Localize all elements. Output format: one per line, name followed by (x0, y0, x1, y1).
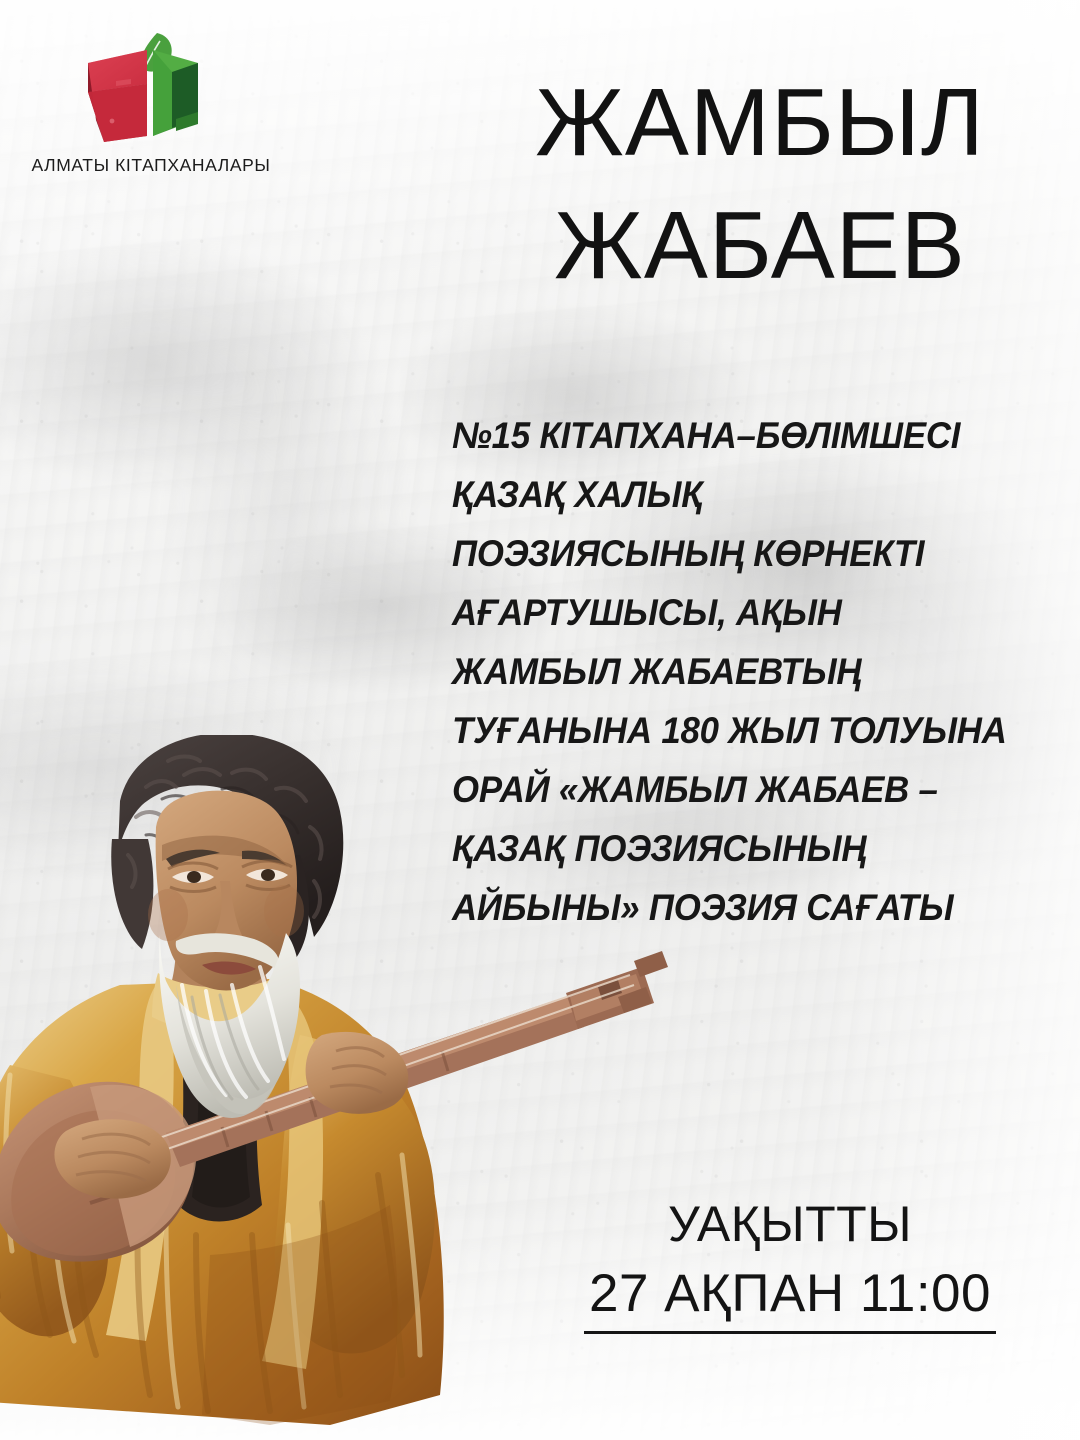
event-time-block: УАҚЫТТЫ 27 АҚПАН 11:00 (560, 1196, 1020, 1334)
time-underline-rule (584, 1331, 996, 1334)
organization-logo: АЛМАТЫ КІТАПХАНАЛАРЫ (26, 24, 276, 176)
description-line: ҚАЗАҚ ХАЛЫҚ (452, 465, 995, 524)
tuning-peg (634, 951, 668, 977)
logo-red-half (88, 50, 147, 142)
poster-canvas: АЛМАТЫ КІТАПХАНАЛАРЫ ЖАМБЫЛ ЖАБАЕВ №15 К… (0, 0, 1080, 1440)
time-label: УАҚЫТТЫ (560, 1196, 1020, 1252)
logo-accent-dot (110, 119, 115, 124)
right-hand (306, 1032, 409, 1114)
time-value: 27 АҚПАН 11:00 (560, 1264, 1020, 1323)
description-line: ПОЭЗИЯСЫНЫҢ КӨРНЕКТІ (452, 524, 995, 583)
title-line-2: ЖАБАЕВ (470, 185, 1050, 308)
title-line-1: ЖАМБЫЛ (470, 62, 1050, 185)
logo-caption: АЛМАТЫ КІТАПХАНАЛАРЫ (26, 155, 276, 176)
apple-hexagon-icon (26, 24, 276, 152)
description-line: №15 КІТАПХАНА–БӨЛІМШЕСІ (452, 406, 995, 465)
description-line: ЖАМБЫЛ ЖАБАЕВТЫҢ (452, 642, 995, 701)
logo-green-half (153, 50, 198, 136)
poster-title: ЖАМБЫЛ ЖАБАЕВ (470, 62, 1050, 308)
description-line: АҒАРТУШЫСЫ, АҚЫН (452, 583, 995, 642)
